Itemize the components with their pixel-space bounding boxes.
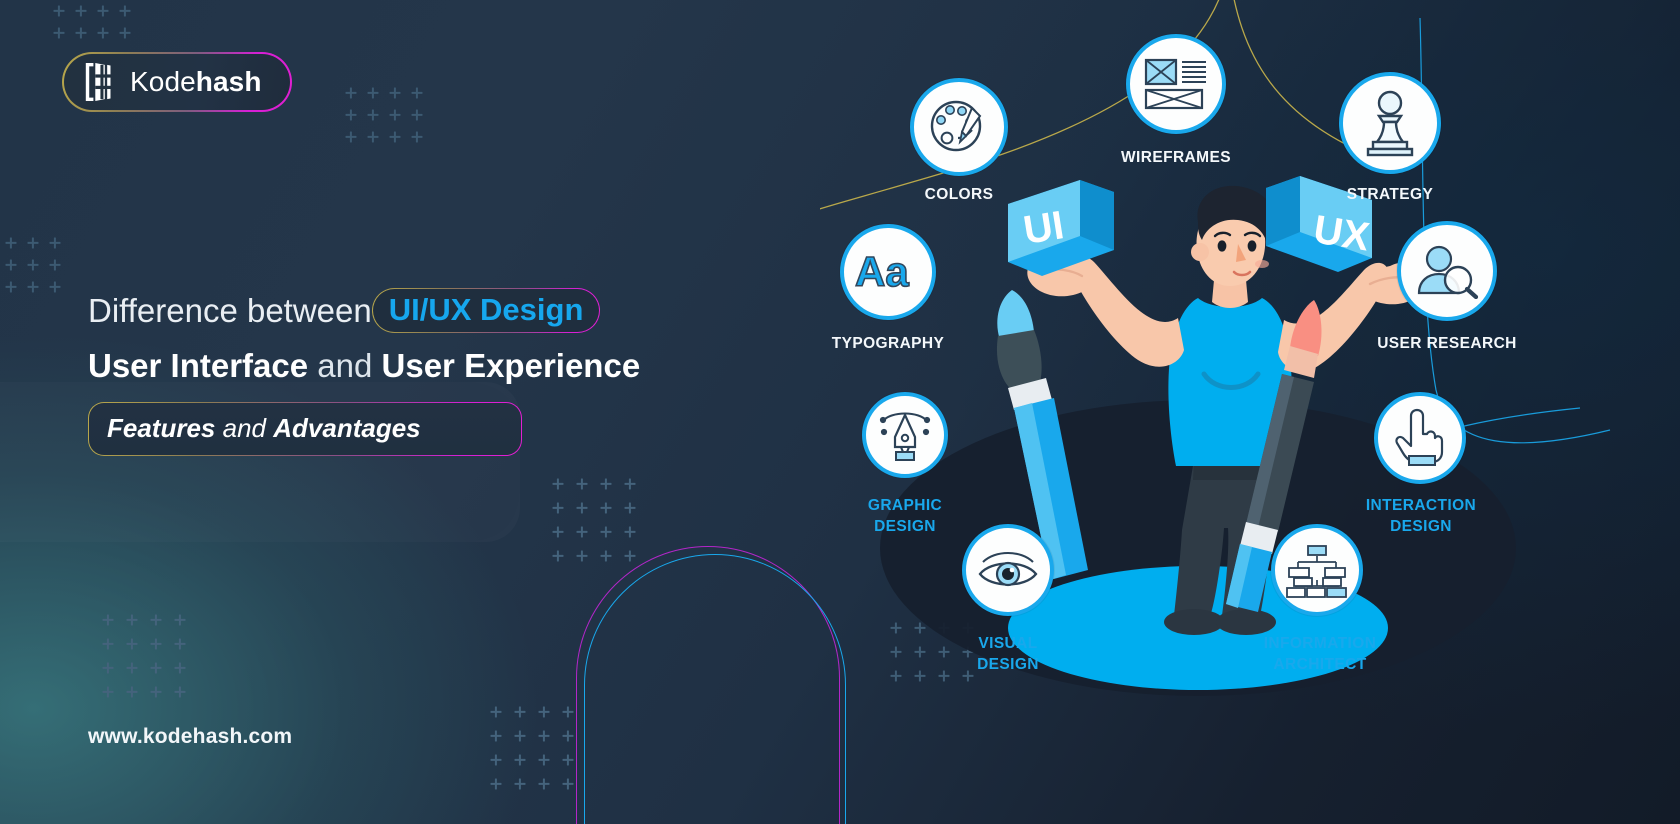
- headline-line1-prefix: Difference between: [88, 294, 372, 327]
- headline-line2-bold-b: User Experience: [382, 347, 641, 384]
- headline-line2-connector: and: [317, 347, 372, 384]
- decor-plus-grid-1: [48, 0, 136, 44]
- headline-line-1: Difference between UI/UX Design: [88, 288, 728, 333]
- palette-icon: [928, 96, 990, 158]
- badge-graphic-design[interactable]: [862, 392, 948, 478]
- badge-visual-design[interactable]: [962, 524, 1054, 616]
- logo-text-bold: hash: [196, 66, 262, 97]
- badge-typography[interactable]: Aa: [840, 224, 936, 320]
- pen-nib-icon: [877, 407, 933, 463]
- banner-canvas: Kodehash Difference between UI/UX Design…: [0, 0, 1680, 824]
- badge-wireframes[interactable]: [1126, 34, 1226, 134]
- headline-subtitle-pill: Features and Advantages: [88, 402, 522, 456]
- typography-aa-icon: Aa: [853, 248, 923, 296]
- svg-text:Aa: Aa: [855, 248, 909, 295]
- headline-highlight-pill: UI/UX Design: [372, 288, 601, 333]
- sitemap-icon: [1286, 542, 1348, 598]
- headline-line3-bold-a: Features: [107, 413, 215, 443]
- headline-line2-bold-a: User Interface: [88, 347, 308, 384]
- decor-plus-grid-3: [0, 232, 66, 298]
- chess-pawn-icon: [1361, 89, 1419, 157]
- badge-user-research[interactable]: [1397, 221, 1497, 321]
- decor-plus-grid-4: [546, 472, 642, 568]
- site-url[interactable]: www.kodehash.com: [88, 725, 292, 749]
- badge-label-colors: COLORS: [899, 184, 1019, 205]
- headline-line-2: User Interface and User Experience: [88, 347, 728, 385]
- decor-plus-grid-6: [484, 700, 580, 796]
- badge-colors[interactable]: [910, 78, 1008, 176]
- brand-logo[interactable]: Kodehash: [62, 52, 292, 112]
- badge-strategy[interactable]: [1339, 72, 1441, 174]
- brand-logo-text: Kodehash: [130, 66, 262, 98]
- headline-line-3: Features and Advantages: [107, 413, 421, 444]
- badge-interaction-design[interactable]: [1374, 392, 1466, 484]
- logo-text-light: Kode: [130, 66, 196, 97]
- badge-label-visual-design: VISUAL DESIGN: [944, 633, 1072, 676]
- decor-arch-cyan: [584, 554, 846, 824]
- decor-plus-grid-2: [340, 82, 428, 148]
- ux-card-text: UX: [1311, 207, 1373, 259]
- headline-line3-connector: and: [223, 413, 266, 443]
- pointing-hand-icon: [1394, 408, 1446, 468]
- uiux-illustration: UI UX: [820, 0, 1680, 824]
- decor-plus-grid-5: [96, 608, 192, 704]
- headline-block: Difference between UI/UX Design User Int…: [88, 288, 728, 456]
- badge-label-typography: TYPOGRAPHY: [823, 333, 953, 354]
- bracket-hash-icon: [82, 61, 120, 103]
- headline-line3-bold-b: Advantages: [273, 413, 420, 443]
- badge-label-information-architect: INFORMATION ARCHITECT: [1230, 633, 1410, 676]
- badge-label-wireframes: WIREFRAMES: [1106, 147, 1246, 168]
- badge-label-interaction-design: INTERACTION DESIGN: [1340, 495, 1502, 538]
- badge-label-strategy: STRATEGY: [1320, 184, 1460, 205]
- badge-label-user-research: USER RESEARCH: [1360, 333, 1534, 354]
- user-search-icon: [1415, 243, 1479, 299]
- eye-icon: [977, 548, 1039, 592]
- badge-information-architect[interactable]: [1271, 524, 1363, 616]
- wireframe-icon: [1144, 56, 1208, 112]
- badge-label-graphic-design: GRAPHIC DESIGN: [839, 495, 971, 538]
- ui-card-text: UI: [1021, 203, 1067, 253]
